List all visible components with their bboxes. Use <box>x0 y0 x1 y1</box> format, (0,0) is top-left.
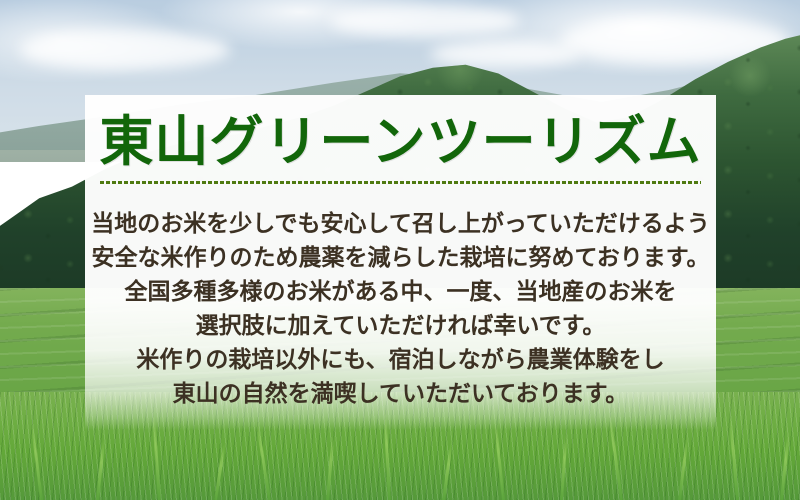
body-line: 東山の自然を満喫していただいております。 <box>85 376 716 410</box>
hero-body-text: 当地のお米を少しでも安心して召し上がっていただけるよう 安全な米作りのため農薬を… <box>85 184 716 410</box>
body-line: 全国多種多様のお米がある中、一度、当地産のお米を <box>85 274 716 308</box>
grass-blade-icon <box>729 414 739 500</box>
body-line: 米作りの栽培以外にも、宿泊しながら農業体験をし <box>85 342 716 376</box>
hero-banner: 東山グリーンツーリズム 当地のお米を少しでも安心して召し上がっていただけるよう … <box>0 0 800 500</box>
cloud-wisp-icon <box>20 30 230 70</box>
hero-content: 東山グリーンツーリズム 当地のお米を少しでも安心して召し上がっていただけるよう … <box>85 95 716 500</box>
grass-blade-icon <box>780 432 790 500</box>
cloud-wisp-icon <box>330 4 520 38</box>
body-line: 安全な米作りのため農薬を減らした栽培に努めております。 <box>85 240 716 274</box>
cloud-wisp-icon <box>430 40 580 68</box>
grass-blade-icon <box>31 422 43 500</box>
page-title: 東山グリーンツーリズム <box>85 95 716 171</box>
body-line: 選択肢に加えていただければ幸いです。 <box>85 308 716 342</box>
body-line: 当地のお米を少しでも安心して召し上がっていただけるよう <box>85 206 716 240</box>
